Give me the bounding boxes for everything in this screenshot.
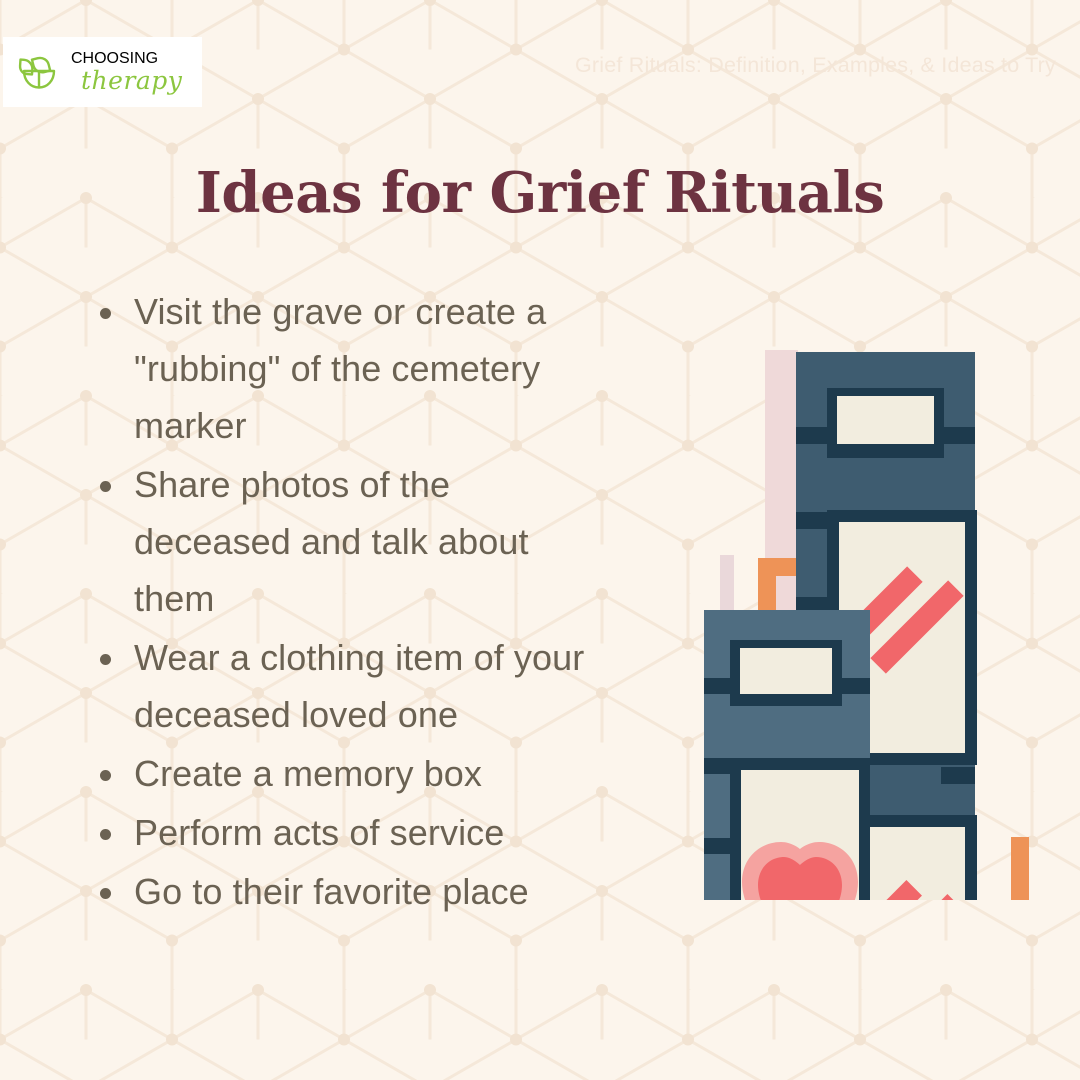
heart-icon <box>742 842 858 900</box>
page-title: Ideas for Grief Rituals <box>0 160 1080 226</box>
list-item: Share photos of the deceased and talk ab… <box>92 456 612 627</box>
list-item: Perform acts of service <box>92 804 612 861</box>
memory-box-illustration: MEMORIES <box>620 280 1080 900</box>
logo-text-therapy: therapy <box>81 68 182 93</box>
lotus-leaf-icon <box>17 49 63 95</box>
list-item: Go to their favorite place <box>92 863 612 920</box>
list-item: Create a memory box <box>92 745 612 802</box>
infographic-canvas: CHOOSING therapy Grief Rituals: Definiti… <box>0 0 1080 1080</box>
list-item: Visit the grave or create a "rubbing" of… <box>92 283 612 454</box>
film-frame-blank-top <box>837 396 934 444</box>
film-frame-blank-small <box>740 648 832 694</box>
article-subtitle: Grief Rituals: Definition, Examples, & I… <box>575 53 1056 78</box>
brand-logo[interactable]: CHOOSING therapy <box>3 37 202 107</box>
grief-rituals-list: Visit the grave or create a "rubbing" of… <box>92 283 612 922</box>
film-strip-small <box>704 610 870 900</box>
logo-text-choosing: CHOOSING <box>71 51 182 67</box>
list-item: Wear a clothing item of your deceased lo… <box>92 629 612 743</box>
